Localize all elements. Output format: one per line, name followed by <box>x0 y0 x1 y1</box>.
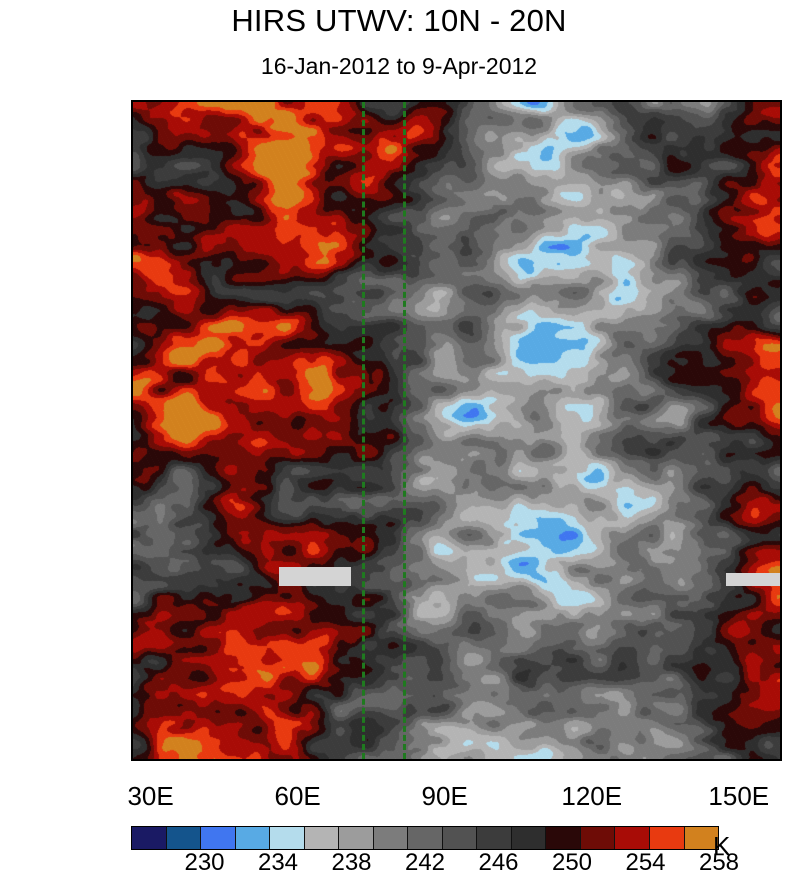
colorbar-tick-label: 230 <box>184 851 224 875</box>
x-axis-tick-label: 60E <box>275 783 321 809</box>
y-axis-minor-tick <box>131 211 133 213</box>
x-axis-tick-label: 90E <box>422 783 468 809</box>
x-axis-tick-label: 120E <box>561 783 622 809</box>
x-axis-minor-tick-top <box>544 100 546 102</box>
colorbar-swatch <box>443 827 478 849</box>
plot-area <box>131 100 782 761</box>
page-subtitle: 16-Jan-2012 to 9-Apr-2012 <box>0 53 798 79</box>
colorbar-swatch <box>132 827 167 849</box>
colorbar-tick-label: 246 <box>478 851 518 875</box>
x-axis-minor-tick-top <box>201 100 203 102</box>
colorbar-swatch <box>236 827 271 849</box>
y-axis-minor-tick <box>131 648 133 650</box>
colorbar-swatch <box>581 827 616 849</box>
x-axis-major-tick <box>445 759 448 761</box>
colorbar-swatch <box>167 827 202 849</box>
colorbar-swatch <box>339 827 374 849</box>
y-axis-minor-tick-right <box>780 320 782 322</box>
x-axis-minor-tick <box>544 759 546 761</box>
colorbar-swatch <box>305 827 340 849</box>
reference-dashed-line <box>362 102 365 759</box>
y-axis-major-tick-right <box>780 758 782 761</box>
x-axis-tick-label: 150E <box>708 783 769 809</box>
y-axis-major-tick-right <box>780 429 782 432</box>
colorbar-swatch <box>270 827 305 849</box>
x-axis-minor-tick <box>348 759 350 761</box>
x-axis-minor-tick-top <box>495 100 497 102</box>
x-axis-major-tick <box>592 759 595 761</box>
missing-data-block <box>279 567 351 585</box>
y-axis-major-tick-right <box>780 593 782 596</box>
colorbar-tick-label: 254 <box>625 851 665 875</box>
x-axis-major-tick <box>151 759 154 761</box>
y-axis-minor-tick <box>131 375 133 377</box>
x-axis-minor-tick <box>740 759 742 761</box>
x-axis-major-tick-top <box>445 100 448 102</box>
y-axis-minor-tick <box>131 320 133 322</box>
colorbar-swatch <box>512 827 547 849</box>
colorbar-swatch <box>615 827 650 849</box>
x-axis-minor-tick-top <box>740 100 742 102</box>
colorbar-unit-label: K <box>713 833 730 859</box>
x-axis-minor-tick <box>642 759 644 761</box>
y-axis-minor-tick-right <box>780 156 782 158</box>
colorbar-tick-label: 242 <box>405 851 445 875</box>
x-axis-minor-tick-top <box>250 100 252 102</box>
y-axis-major-tick <box>131 593 133 596</box>
colorbar-tick-label: 238 <box>331 851 371 875</box>
colorbar <box>131 826 719 850</box>
y-axis-minor-tick-right <box>780 211 782 213</box>
y-axis-minor-tick-right <box>780 648 782 650</box>
y-axis-major-tick <box>131 758 133 761</box>
y-axis-minor-tick-right <box>780 375 782 377</box>
x-axis-tick-label: 30E <box>127 783 173 809</box>
x-axis-major-tick <box>739 759 742 761</box>
colorbar-tick-label: 250 <box>552 851 592 875</box>
colorbar-swatch <box>374 827 409 849</box>
x-axis-major-tick <box>298 759 301 761</box>
y-axis-minor-tick <box>131 156 133 158</box>
y-axis-minor-tick-right <box>780 703 782 705</box>
colorbar-swatch <box>201 827 236 849</box>
page-title: HIRS UTWV: 10N - 20N <box>0 4 798 38</box>
x-axis-minor-tick <box>201 759 203 761</box>
y-axis-major-tick <box>131 265 133 268</box>
y-axis-major-tick <box>131 101 133 104</box>
y-axis-minor-tick <box>131 484 133 486</box>
colorbar-swatch <box>650 827 685 849</box>
x-axis-minor-tick <box>250 759 252 761</box>
y-axis-major-tick-right <box>780 101 782 104</box>
colorbar-swatch <box>477 827 512 849</box>
y-axis-minor-tick <box>131 703 133 705</box>
colorbar-swatch <box>546 827 581 849</box>
x-axis-major-tick-top <box>151 100 154 102</box>
reference-dashed-line <box>403 102 406 759</box>
x-axis-minor-tick-top <box>348 100 350 102</box>
y-axis-minor-tick <box>131 539 133 541</box>
x-axis-minor-tick <box>691 759 693 761</box>
hovmoller-figure: HIRS UTWV: 10N - 20N 16-Jan-2012 to 9-Ap… <box>0 0 798 869</box>
x-axis-major-tick-top <box>592 100 595 102</box>
x-axis-minor-tick-top <box>691 100 693 102</box>
x-axis-minor-tick <box>495 759 497 761</box>
y-axis-minor-tick-right <box>780 484 782 486</box>
x-axis-minor-tick-top <box>642 100 644 102</box>
colorbar-tick-label: 234 <box>258 851 298 875</box>
y-axis-major-tick <box>131 429 133 432</box>
colorbar-swatch <box>408 827 443 849</box>
missing-data-block <box>726 573 780 586</box>
y-axis-major-tick-right <box>780 265 782 268</box>
x-axis-major-tick-top <box>298 100 301 102</box>
x-axis-minor-tick <box>397 759 399 761</box>
heatmap-canvas <box>133 102 780 759</box>
y-axis-minor-tick-right <box>780 539 782 541</box>
x-axis-minor-tick-top <box>397 100 399 102</box>
